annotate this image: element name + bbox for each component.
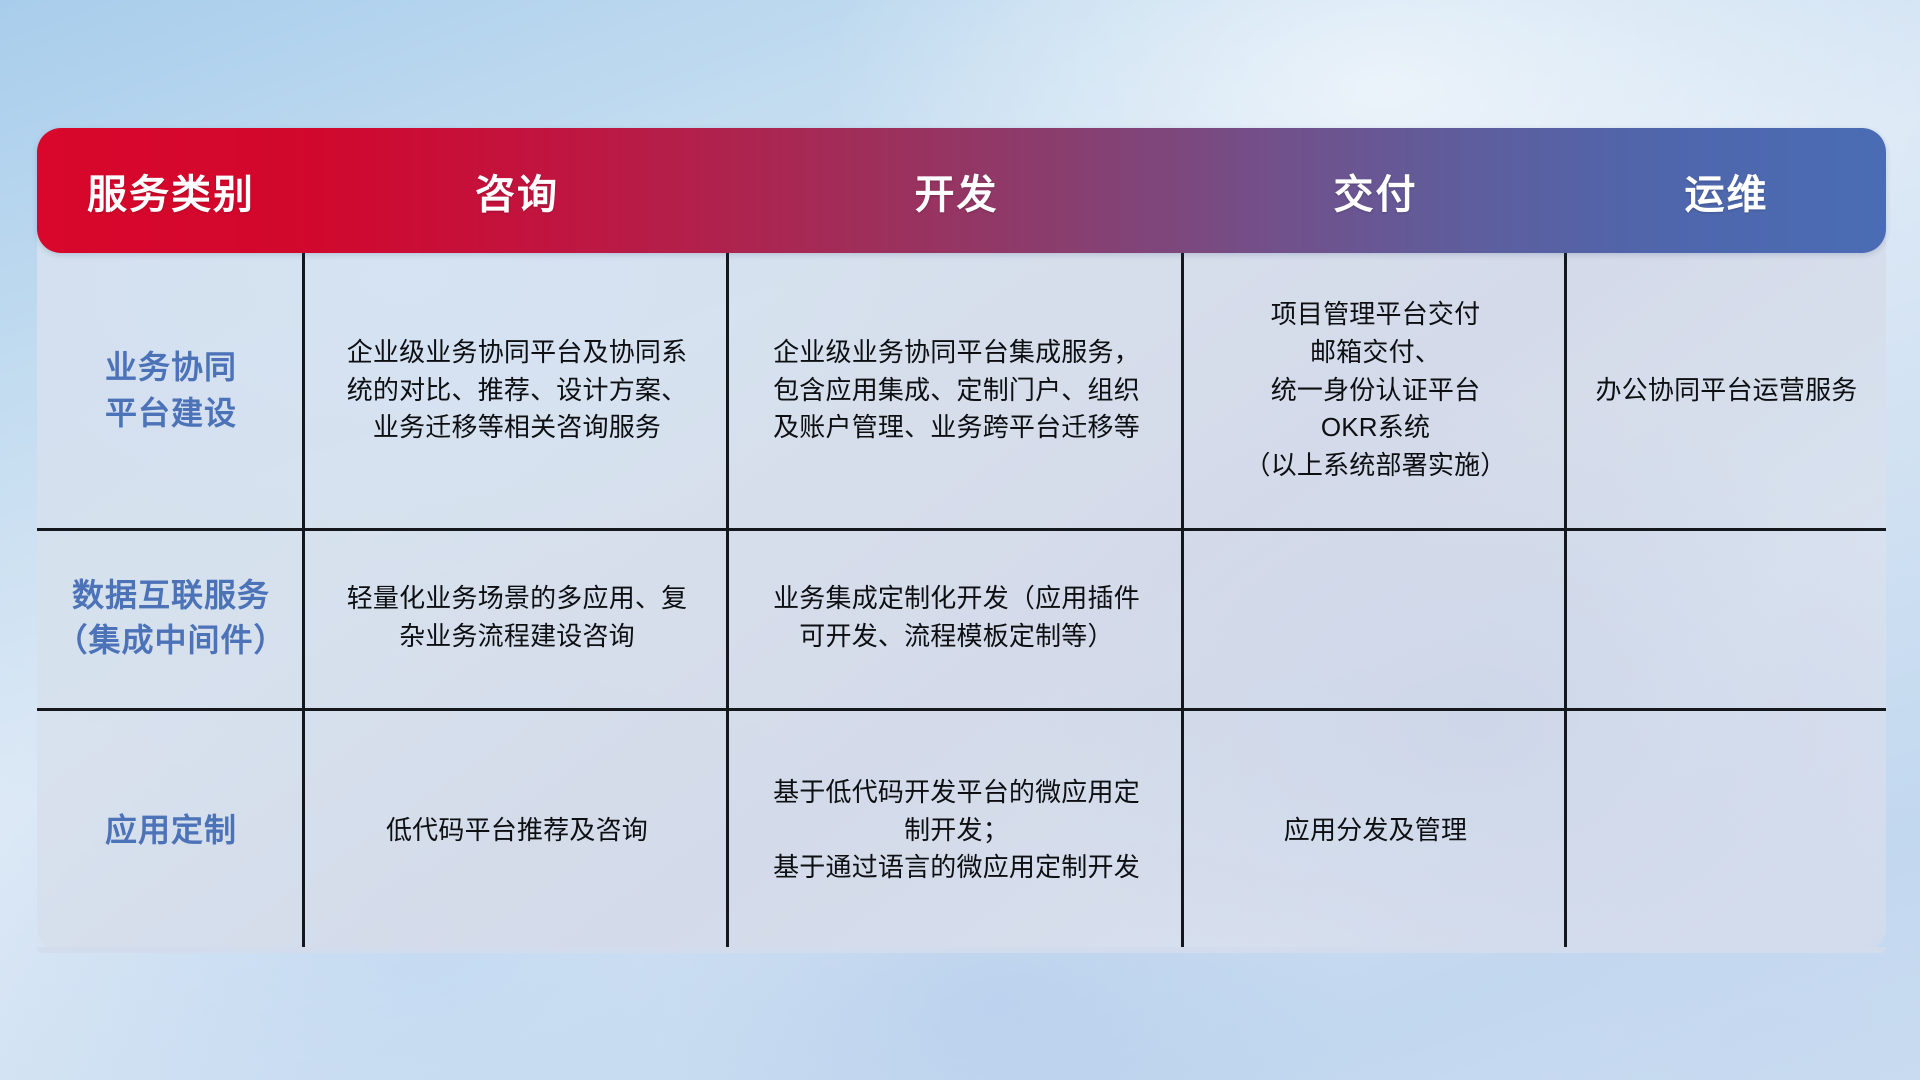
table-row: 应用定制 低代码平台推荐及咨询 基于低代码开发平台的微应用定 制开发； 基于通过… [37, 708, 1886, 953]
cell-delivery: 应用分发及管理 [1184, 708, 1567, 953]
header-cell-development: 开发 [729, 162, 1184, 220]
cell-delivery [1184, 528, 1567, 708]
table-row: 业务协同 平台建设 企业级业务协同平台及协同系 统的对比、推荐、设计方案、 业务… [37, 253, 1886, 528]
header-cell-category: 服务类别 [37, 162, 305, 220]
row-category-cell: 应用定制 [37, 708, 305, 953]
cell-consulting: 低代码平台推荐及咨询 [305, 708, 729, 953]
cell-text: 轻量化业务场景的多应用、复 杂业务流程建设咨询 [347, 580, 688, 656]
cell-text: 低代码平台推荐及咨询 [386, 812, 648, 850]
row-category-label: 应用定制 [105, 808, 237, 853]
cell-text: 基于低代码开发平台的微应用定 制开发； 基于通过语言的微应用定制开发 [773, 774, 1140, 888]
slide-canvas: 服务类别 咨询 开发 交付 运维 业务协同 平台建设 企业级业务协同平台及协同系… [0, 0, 1920, 1080]
cell-text: 业务集成定制化开发（应用插件 可开发、流程模板定制等） [773, 580, 1140, 656]
service-matrix-table: 服务类别 咨询 开发 交付 运维 业务协同 平台建设 企业级业务协同平台及协同系… [37, 128, 1886, 953]
table-body: 业务协同 平台建设 企业级业务协同平台及协同系 统的对比、推荐、设计方案、 业务… [37, 253, 1886, 953]
cell-text: 项目管理平台交付 邮箱交付、 统一身份认证平台 OKR系统 （以上系统部署实施） [1244, 296, 1506, 486]
cell-consulting: 轻量化业务场景的多应用、复 杂业务流程建设咨询 [305, 528, 729, 708]
cell-delivery: 项目管理平台交付 邮箱交付、 统一身份认证平台 OKR系统 （以上系统部署实施） [1184, 253, 1567, 528]
header-cell-delivery: 交付 [1184, 162, 1567, 220]
cell-development: 业务集成定制化开发（应用插件 可开发、流程模板定制等） [729, 528, 1184, 708]
cell-text: 企业级业务协同平台集成服务， 包含应用集成、定制门户、组织 及账户管理、业务跨平… [773, 334, 1140, 448]
cell-text: 企业级业务协同平台及协同系 统的对比、推荐、设计方案、 业务迁移等相关咨询服务 [347, 334, 688, 448]
header-cell-operations: 运维 [1567, 162, 1886, 220]
cell-development: 企业级业务协同平台集成服务， 包含应用集成、定制门户、组织 及账户管理、业务跨平… [729, 253, 1184, 528]
cell-development: 基于低代码开发平台的微应用定 制开发； 基于通过语言的微应用定制开发 [729, 708, 1184, 953]
cell-operations: 办公协同平台运营服务 [1567, 253, 1886, 528]
row-category-cell: 数据互联服务 （集成中间件） [37, 528, 305, 708]
table-header-row: 服务类别 咨询 开发 交付 运维 [37, 128, 1886, 253]
cell-operations [1567, 708, 1886, 953]
table-row: 数据互联服务 （集成中间件） 轻量化业务场景的多应用、复 杂业务流程建设咨询 业… [37, 528, 1886, 708]
cell-text: 应用分发及管理 [1284, 812, 1467, 850]
cell-operations [1567, 528, 1886, 708]
row-category-label: 数据互联服务 （集成中间件） [55, 573, 286, 664]
panel-bottom-edge [37, 947, 1886, 953]
header-cell-consulting: 咨询 [305, 162, 729, 220]
cell-consulting: 企业级业务协同平台及协同系 统的对比、推荐、设计方案、 业务迁移等相关咨询服务 [305, 253, 729, 528]
row-category-cell: 业务协同 平台建设 [37, 253, 305, 528]
row-category-label: 业务协同 平台建设 [105, 345, 237, 436]
cell-text: 办公协同平台运营服务 [1595, 372, 1857, 410]
